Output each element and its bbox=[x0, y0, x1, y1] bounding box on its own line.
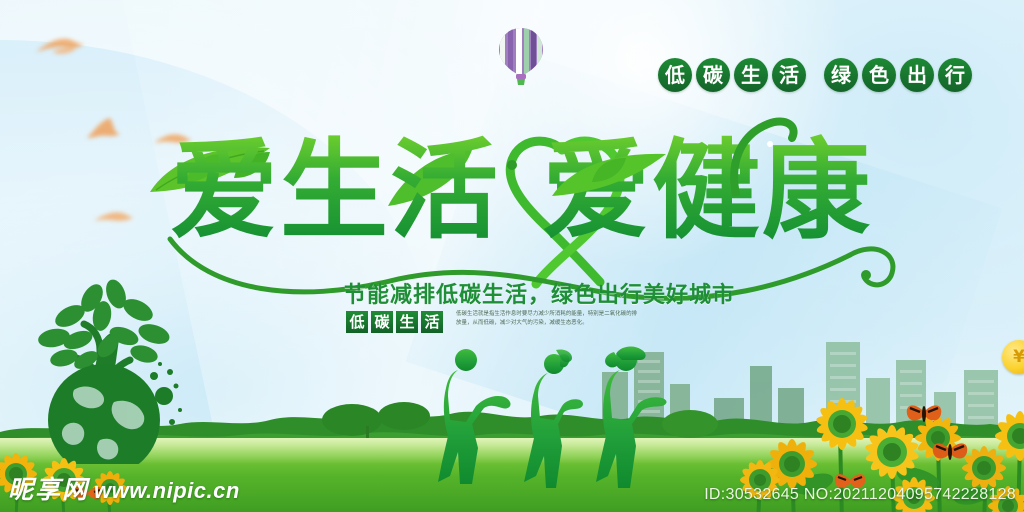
low-carbon-tag: 低 碳 生 活 bbox=[346, 311, 443, 333]
bird-icon bbox=[84, 114, 132, 148]
subtitle: 节能减排低碳生活，绿色出行美好城市 bbox=[344, 277, 735, 309]
tag-char: 低 bbox=[346, 311, 368, 333]
slogan-badge: 出 bbox=[900, 58, 934, 92]
watermark-url: www.nipic.cn bbox=[94, 478, 240, 504]
slogan-badge: 色 bbox=[862, 58, 896, 92]
tag-char: 碳 bbox=[371, 311, 393, 333]
watermark-brand: 昵享网 bbox=[8, 470, 89, 506]
runner-figure bbox=[524, 349, 583, 488]
slogan-badge: 生 bbox=[734, 58, 768, 92]
runner-figure bbox=[596, 347, 667, 488]
slogan-badge: 行 bbox=[938, 58, 972, 92]
tag-char: 活 bbox=[421, 311, 443, 333]
globe-icon bbox=[48, 362, 182, 464]
slogan-badge: 活 bbox=[772, 58, 806, 92]
slogan-badge: 绿 bbox=[824, 58, 858, 92]
tag-char: 生 bbox=[396, 311, 418, 333]
runner-figure bbox=[438, 349, 511, 484]
slogan-badge: 低 bbox=[658, 58, 692, 92]
bird-icon bbox=[92, 208, 136, 228]
slogan-badge: 碳 bbox=[696, 58, 730, 92]
bird-icon bbox=[34, 36, 90, 62]
watermark: 昵享网 www.nipic.cn bbox=[8, 470, 240, 506]
image-id-text: ID:30532645 NO:20211204095742228128 bbox=[704, 486, 1016, 504]
hot-air-balloon-icon bbox=[496, 26, 546, 92]
leaf-icon bbox=[590, 156, 628, 186]
slogan-badges: 低 碳 生 活 绿 色 出 行 bbox=[658, 58, 972, 92]
eco-health-poster: 爱生活 爱健康 ¥ 低 碳 生 活 绿 色 出 行 节能减排低碳生活，绿色出行美… bbox=[0, 0, 1024, 512]
runner-silhouettes bbox=[428, 340, 698, 490]
body-text: 低碳生活就是指生活作息时要尽力减少所消耗的能量，特别是二氧化碳的排放量，从而低碳… bbox=[456, 310, 642, 327]
vine-icon bbox=[720, 116, 800, 196]
tree-globe-illustration bbox=[8, 254, 198, 464]
